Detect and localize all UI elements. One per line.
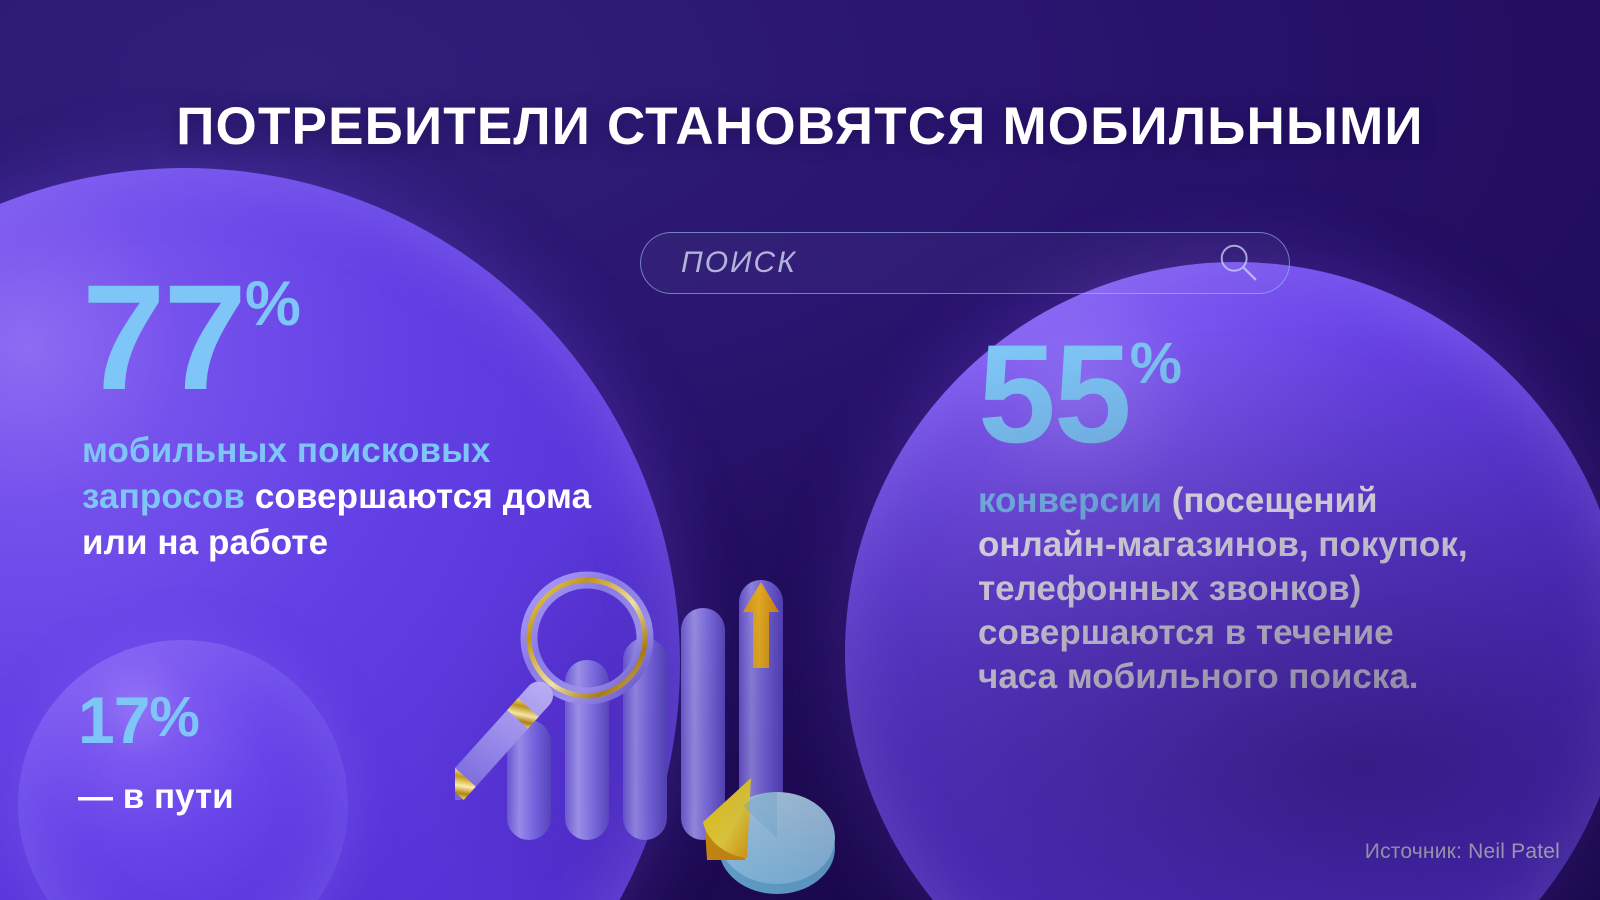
stat-highlight-55: конверсии [978,481,1162,520]
stat-description-77: мобильных поисковых запросов совершаются… [82,428,602,567]
stat-number-17: 17 [78,690,149,751]
search-input[interactable]: ПОИСК [640,232,1290,294]
stat-percent-17: % [149,690,198,747]
stat-block-17: 17 % — в пути [78,690,234,817]
search-placeholder-label: ПОИСК [681,246,797,280]
stat-caption-17: — в пути [78,777,234,817]
stat-percent-77: % [245,273,300,336]
source-attribution: Источник: Neil Patel [1365,840,1560,864]
stat-description-55: конверсии (посещений онлайн-магазинов, п… [978,479,1478,699]
stat-block-55: 55 % конверсии (посещений онлайн-магазин… [978,330,1478,699]
illustration-group [455,560,885,900]
search-icon[interactable] [1215,240,1261,286]
stat-block-77: 77 % мобильных поисковых запросов соверш… [82,268,602,567]
stat-percent-55: % [1130,335,1181,394]
stat-value-77: 77 % [82,268,602,406]
page-title: ПОТРЕБИТЕЛИ СТАНОВЯТСЯ МОБИЛЬНЫМИ [0,96,1600,157]
stat-number-77: 77 [82,268,245,406]
stat-number-55: 55 [978,330,1130,459]
stat-value-55: 55 % [978,330,1478,459]
infographic-canvas: ПОТРЕБИТЕЛИ СТАНОВЯТСЯ МОБИЛЬНЫМИ ПОИСК … [0,0,1600,900]
stat-value-17: 17 % [78,690,234,751]
analytics-illustration [455,560,885,900]
